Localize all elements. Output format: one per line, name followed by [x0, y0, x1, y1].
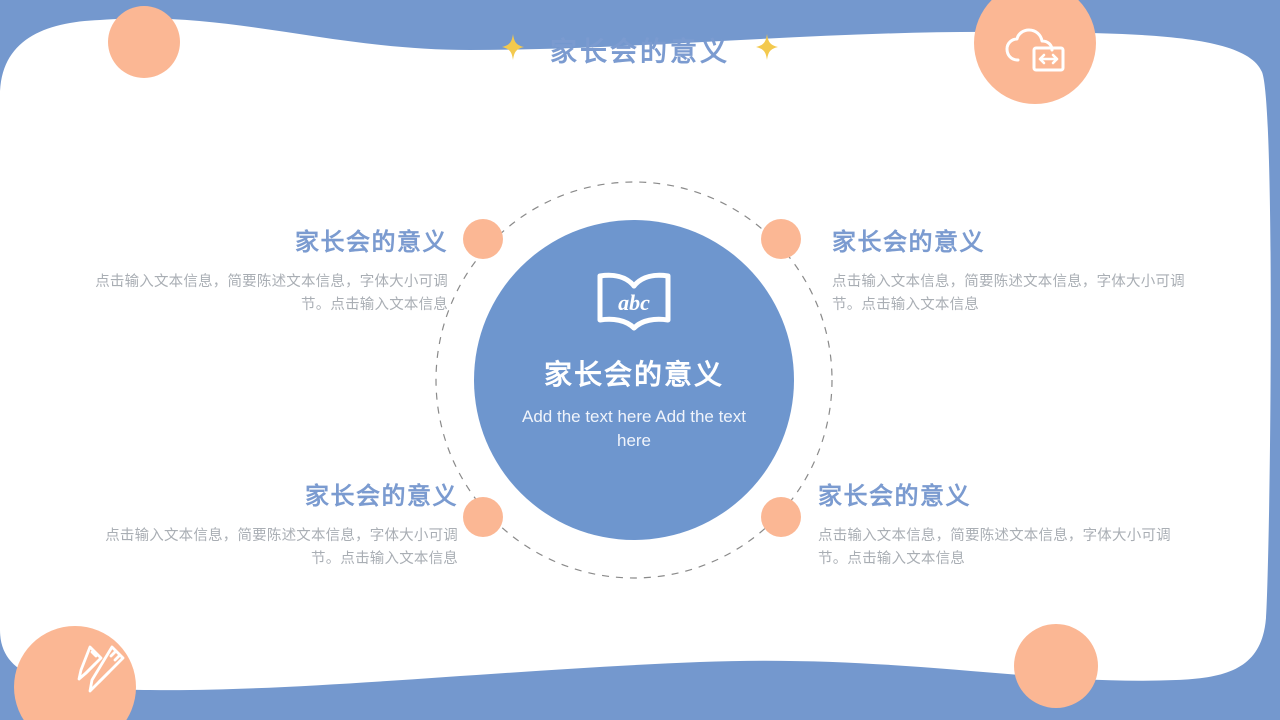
- node-dot-top-left[interactable]: [463, 219, 503, 259]
- node-dot-top-right[interactable]: [761, 219, 801, 259]
- pencil-ruler-icon: [73, 641, 129, 702]
- open-book-abc-icon: abc: [591, 268, 677, 339]
- sparkle-star-icon-left: [502, 34, 524, 65]
- content-block-top-right[interactable]: 家长会的意义 点击输入文本信息，简要陈述文本信息，字体大小可调节。点击输入文本信…: [832, 222, 1192, 318]
- content-heading: 家长会的意义: [98, 476, 458, 511]
- content-block-top-left[interactable]: 家长会的意义 点击输入文本信息，简要陈述文本信息，字体大小可调节。点击输入文本信…: [88, 222, 448, 318]
- content-block-bottom-left[interactable]: 家长会的意义 点击输入文本信息，简要陈述文本信息，字体大小可调节。点击输入文本信…: [98, 476, 458, 572]
- hub-title: 家长会的意义: [544, 353, 724, 393]
- content-heading: 家长会的意义: [832, 222, 1192, 257]
- hub-subtitle: Add the text here Add the text here: [520, 405, 748, 453]
- node-dot-bottom-right[interactable]: [761, 497, 801, 537]
- slide-canvas: 家长会的意义 abc 家长会的意义 Add the text here Add …: [0, 0, 1280, 720]
- center-hub[interactable]: abc 家长会的意义 Add the text here Add the tex…: [474, 220, 794, 540]
- content-body: 点击输入文本信息，简要陈述文本信息，字体大小可调节。点击输入文本信息: [832, 271, 1192, 318]
- node-dot-bottom-left[interactable]: [463, 497, 503, 537]
- content-block-bottom-right[interactable]: 家长会的意义 点击输入文本信息，简要陈述文本信息，字体大小可调节。点击输入文本信…: [818, 476, 1178, 572]
- decor-circle-bottom-right: [1014, 624, 1098, 708]
- content-body: 点击输入文本信息，简要陈述文本信息，字体大小可调节。点击输入文本信息: [88, 271, 448, 318]
- page-title: 家长会的意义: [550, 30, 730, 69]
- svg-text:abc: abc: [618, 290, 650, 315]
- slide-title-row: 家长会的意义: [0, 30, 1280, 69]
- sparkle-star-icon-right: [756, 34, 778, 65]
- content-heading: 家长会的意义: [88, 222, 448, 257]
- content-heading: 家长会的意义: [818, 476, 1178, 511]
- content-body: 点击输入文本信息，简要陈述文本信息，字体大小可调节。点击输入文本信息: [818, 525, 1178, 572]
- content-body: 点击输入文本信息，简要陈述文本信息，字体大小可调节。点击输入文本信息: [98, 525, 458, 572]
